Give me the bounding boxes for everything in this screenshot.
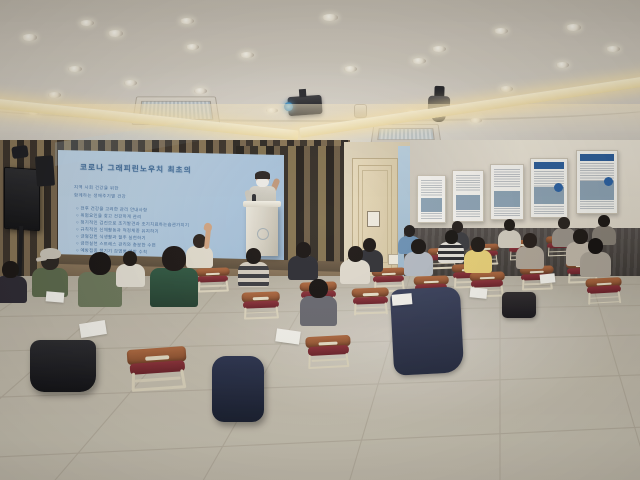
chair-stretcher-mid [590, 296, 618, 299]
torso [300, 296, 337, 326]
downlight [80, 20, 94, 26]
head [588, 238, 604, 254]
head [89, 252, 111, 275]
torso [0, 276, 27, 303]
audience-member [438, 242, 464, 263]
torso [464, 250, 492, 273]
head [296, 242, 311, 258]
downlight [606, 46, 620, 52]
chair-stretcher-mid [356, 307, 385, 309]
stage-spotlight-1 [11, 145, 29, 159]
torso [340, 260, 370, 284]
torso [438, 242, 464, 263]
downlight [556, 62, 569, 68]
downlight [194, 88, 207, 94]
head [348, 246, 363, 262]
torso [516, 246, 544, 269]
head [598, 215, 610, 227]
audience-member [288, 256, 318, 280]
display-panel-5 [576, 150, 618, 214]
chair-stretcher-mid [135, 377, 181, 382]
downlight [322, 14, 338, 21]
head [363, 238, 377, 252]
folding-chair [127, 346, 189, 392]
torso [580, 252, 611, 277]
handout-paper [470, 287, 488, 299]
torso [150, 268, 198, 307]
head [523, 233, 537, 248]
downlight [68, 66, 82, 72]
downlight [500, 86, 513, 92]
head [411, 239, 426, 254]
folding-chair [352, 287, 390, 315]
downlight [124, 80, 137, 86]
head [309, 279, 328, 298]
slide-subline-2: 함께하는 생애주기별 건강 [74, 192, 126, 199]
downlight [22, 34, 37, 41]
head [445, 230, 458, 244]
handbag-right [502, 292, 536, 318]
chair-stretcher-mid [200, 285, 226, 287]
downlight [566, 24, 581, 31]
folding-chair [196, 267, 230, 292]
chair-seat [373, 275, 404, 283]
chair-seat [307, 345, 349, 356]
head [123, 251, 137, 266]
audience-member [116, 264, 145, 287]
chair-seat [587, 285, 621, 294]
torso [404, 252, 433, 276]
downlight [48, 92, 61, 98]
audience-member [238, 262, 269, 287]
audience-member [404, 252, 433, 276]
display-panel-1 [417, 175, 446, 223]
downlight [494, 28, 508, 34]
downlight [240, 52, 254, 58]
head [2, 261, 19, 278]
pa-speaker-left [4, 167, 40, 232]
slide-subline-1: 지역 사회 건강을 위한 [74, 184, 119, 191]
downlight [108, 30, 123, 37]
downlight [432, 46, 446, 52]
downlight [412, 58, 426, 64]
audience-member [340, 260, 370, 284]
downlight [180, 18, 194, 24]
pa-speaker-small [35, 155, 55, 186]
display-panel-3 [490, 164, 524, 220]
chair-stretcher-mid [311, 358, 346, 361]
audience-member [516, 246, 544, 269]
handout-paper [46, 291, 65, 303]
chair-seat [471, 279, 503, 287]
seminar-room-photo: 코로나 그래피린노우치 최초의 지역 사회 건강을 위한 함께하는 생애주기별 … [0, 0, 640, 480]
handout-paper [540, 273, 556, 284]
chair-seat [353, 296, 388, 304]
handout-paper [392, 293, 413, 306]
chair-seat [197, 275, 228, 283]
downlight [344, 66, 357, 72]
slide-title: 코로나 그래피린노우치 최초의 [80, 162, 192, 176]
audience-member [464, 250, 492, 273]
chair-seat [243, 300, 279, 309]
chair-stretcher-mid [246, 311, 276, 313]
downlight [186, 44, 199, 50]
head [558, 217, 570, 229]
audience-member [150, 268, 198, 307]
navy-backpack [212, 356, 264, 422]
audience-member [580, 252, 611, 277]
audience-member [0, 276, 27, 303]
door-sign [367, 211, 380, 227]
head [246, 248, 262, 264]
torso [288, 256, 318, 280]
torso [186, 246, 213, 268]
folding-chair [242, 291, 281, 319]
head [573, 229, 588, 244]
folding-chair [305, 335, 351, 369]
torso [238, 262, 269, 287]
folding-chair [585, 277, 622, 304]
torso [116, 264, 145, 287]
audience-member [300, 296, 337, 326]
chair-stretcher-mid [524, 283, 550, 285]
head [471, 237, 485, 252]
display-panel-4 [530, 158, 568, 218]
black-tote-bag [30, 340, 96, 392]
display-panel-2 [452, 170, 484, 222]
audience-member [186, 246, 213, 268]
head [162, 246, 186, 271]
